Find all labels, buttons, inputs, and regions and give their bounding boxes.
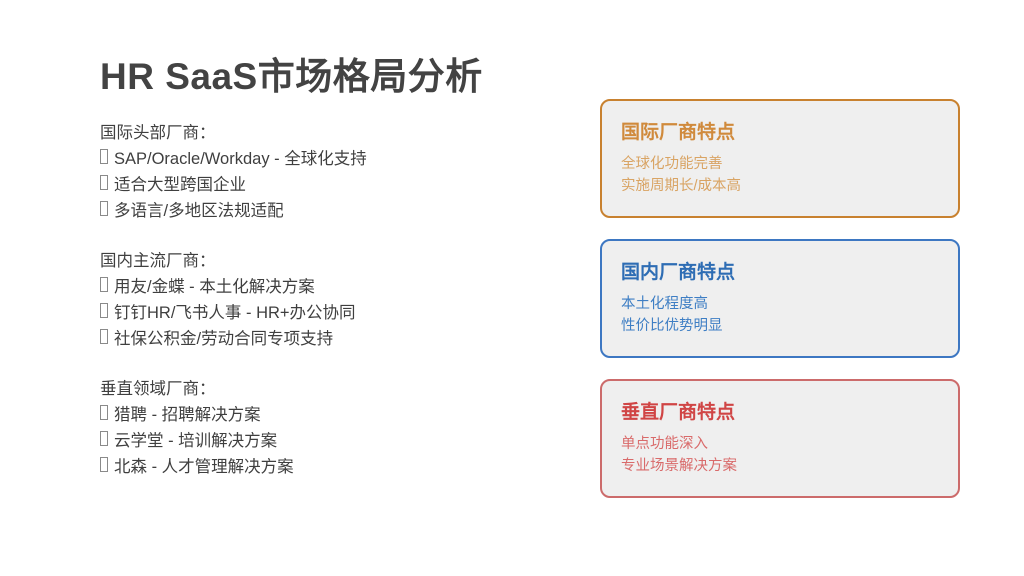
vendor-group-international: 国际头部厂商： SAP/Oracle/Workday - 全球化支持 适合大型跨… [100,120,530,224]
group-heading: 国内主流厂商： [100,248,530,274]
card-domestic-vendors: 国内厂商特点 本土化程度高 性价比优势明显 [600,239,960,358]
list-item: 多语言/多地区法规适配 [100,198,530,224]
vendor-group-vertical: 垂直领域厂商： 猎聘 - 招聘解决方案 云学堂 - 培训解决方案 北森 - 人才… [100,376,530,480]
list-item-label: 北森 - 人才管理解决方案 [114,454,294,480]
slide-canvas: HR SaaS市场格局分析 国际头部厂商： SAP/Oracle/Workday… [0,0,1024,576]
missing-glyph-bullet-icon [100,175,108,190]
list-item-label: 社保公积金/劳动合同专项支持 [114,326,333,352]
list-item: 钉钉HR/飞书人事 - HR+办公协同 [100,300,530,326]
list-item: 社保公积金/劳动合同专项支持 [100,326,530,352]
card-line: 单点功能深入 [621,433,958,455]
list-item: 适合大型跨国企业 [100,172,530,198]
body-text-column: 国际头部厂商： SAP/Oracle/Workday - 全球化支持 适合大型跨… [100,120,530,480]
vendor-group-domestic: 国内主流厂商： 用友/金蝶 - 本土化解决方案 钉钉HR/飞书人事 - HR+办… [100,248,530,352]
card-line: 全球化功能完善 [621,153,958,175]
list-item-label: SAP/Oracle/Workday - 全球化支持 [114,146,367,172]
card-title: 垂直厂商特点 [621,400,958,426]
list-item: 云学堂 - 培训解决方案 [100,428,530,454]
missing-glyph-bullet-icon [100,405,108,420]
list-item-label: 多语言/多地区法规适配 [114,198,284,224]
list-item-label: 钉钉HR/飞书人事 - HR+办公协同 [114,300,356,326]
missing-glyph-bullet-icon [100,149,108,164]
feature-card-stack: 国际厂商特点 全球化功能完善 实施周期长/成本高 国内厂商特点 本土化程度高 性… [600,99,960,498]
missing-glyph-bullet-icon [100,303,108,318]
list-item: 北森 - 人才管理解决方案 [100,454,530,480]
card-international-vendors: 国际厂商特点 全球化功能完善 实施周期长/成本高 [600,99,960,218]
card-line: 本土化程度高 [621,293,958,315]
missing-glyph-bullet-icon [100,277,108,292]
list-item-label: 用友/金蝶 - 本土化解决方案 [114,274,315,300]
list-item-label: 适合大型跨国企业 [114,172,246,198]
card-line: 专业场景解决方案 [621,455,958,477]
missing-glyph-bullet-icon [100,201,108,216]
group-heading: 垂直领域厂商： [100,376,530,402]
group-heading: 国际头部厂商： [100,120,530,146]
missing-glyph-bullet-icon [100,457,108,472]
list-item: SAP/Oracle/Workday - 全球化支持 [100,146,530,172]
card-vertical-vendors: 垂直厂商特点 单点功能深入 专业场景解决方案 [600,379,960,498]
card-line: 实施周期长/成本高 [621,175,958,197]
page-title: HR SaaS市场格局分析 [100,55,483,99]
card-line: 性价比优势明显 [621,315,958,337]
list-item-label: 猎聘 - 招聘解决方案 [114,402,261,428]
missing-glyph-bullet-icon [100,431,108,446]
list-item-label: 云学堂 - 培训解决方案 [114,428,277,454]
list-item: 猎聘 - 招聘解决方案 [100,402,530,428]
list-item: 用友/金蝶 - 本土化解决方案 [100,274,530,300]
card-title: 国内厂商特点 [621,260,958,286]
card-title: 国际厂商特点 [621,120,958,146]
missing-glyph-bullet-icon [100,329,108,344]
